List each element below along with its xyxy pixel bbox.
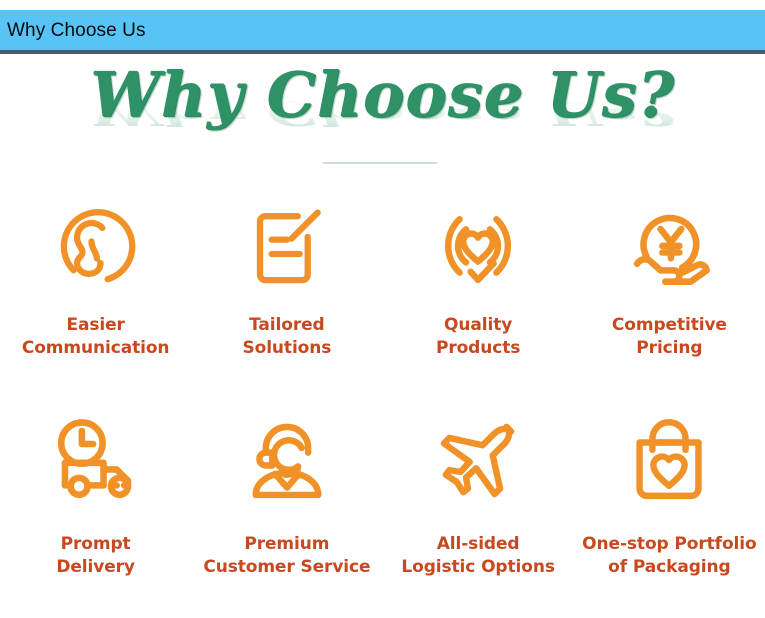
feature-label: Quality Products [436,314,520,359]
page-title: Why Choose Us? [0,64,765,126]
headset-agent-icon [232,405,342,515]
feature-grid: Easier Communication Tailored Solutions [0,188,765,618]
feature-label: Tailored Solutions [242,314,331,359]
feature-item-competitive-pricing[interactable]: Competitive Pricing [574,188,765,403]
window-title: Why Choose Us [0,21,146,40]
feature-item-quality-products[interactable]: Quality Products [383,188,574,403]
feature-label: All-sided Logistic Options [401,533,554,578]
ear-in-circle-icon [41,190,151,300]
feature-label: Competitive Pricing [612,314,727,359]
feature-item-one-stop-portfolio-of-packaging[interactable]: One-stop Portfolio of Packaging [574,403,765,618]
feature-item-premium-customer-service[interactable]: Premium Customer Service [191,403,382,618]
feature-label: Prompt Delivery [56,533,135,578]
feature-label: One-stop Portfolio of Packaging [582,533,756,578]
delivery-truck-clock-icon [41,405,151,515]
feature-item-tailored-solutions[interactable]: Tailored Solutions [191,188,382,403]
headline-block: Why Choose Us? Why Choose Us? [0,58,765,176]
slide-canvas: Why Choose Us? Why Choose Us? Easier Com… [0,58,765,599]
airplane-icon [423,405,533,515]
hand-holding-yen-coin-icon [614,190,724,300]
shopping-bag-heart-icon [614,405,724,515]
feature-label: Premium Customer Service [203,533,370,578]
headline-divider [323,162,437,164]
document-pencil-icon [232,190,342,300]
feature-label: Easier Communication [22,314,170,359]
window-titlebar: Why Choose Us [0,10,765,54]
feature-item-all-sided-logistic-options[interactable]: All-sided Logistic Options [383,403,574,618]
heart-check-signal-icon [423,190,533,300]
feature-item-prompt-delivery[interactable]: Prompt Delivery [0,403,191,618]
feature-item-easier-communication[interactable]: Easier Communication [0,188,191,403]
